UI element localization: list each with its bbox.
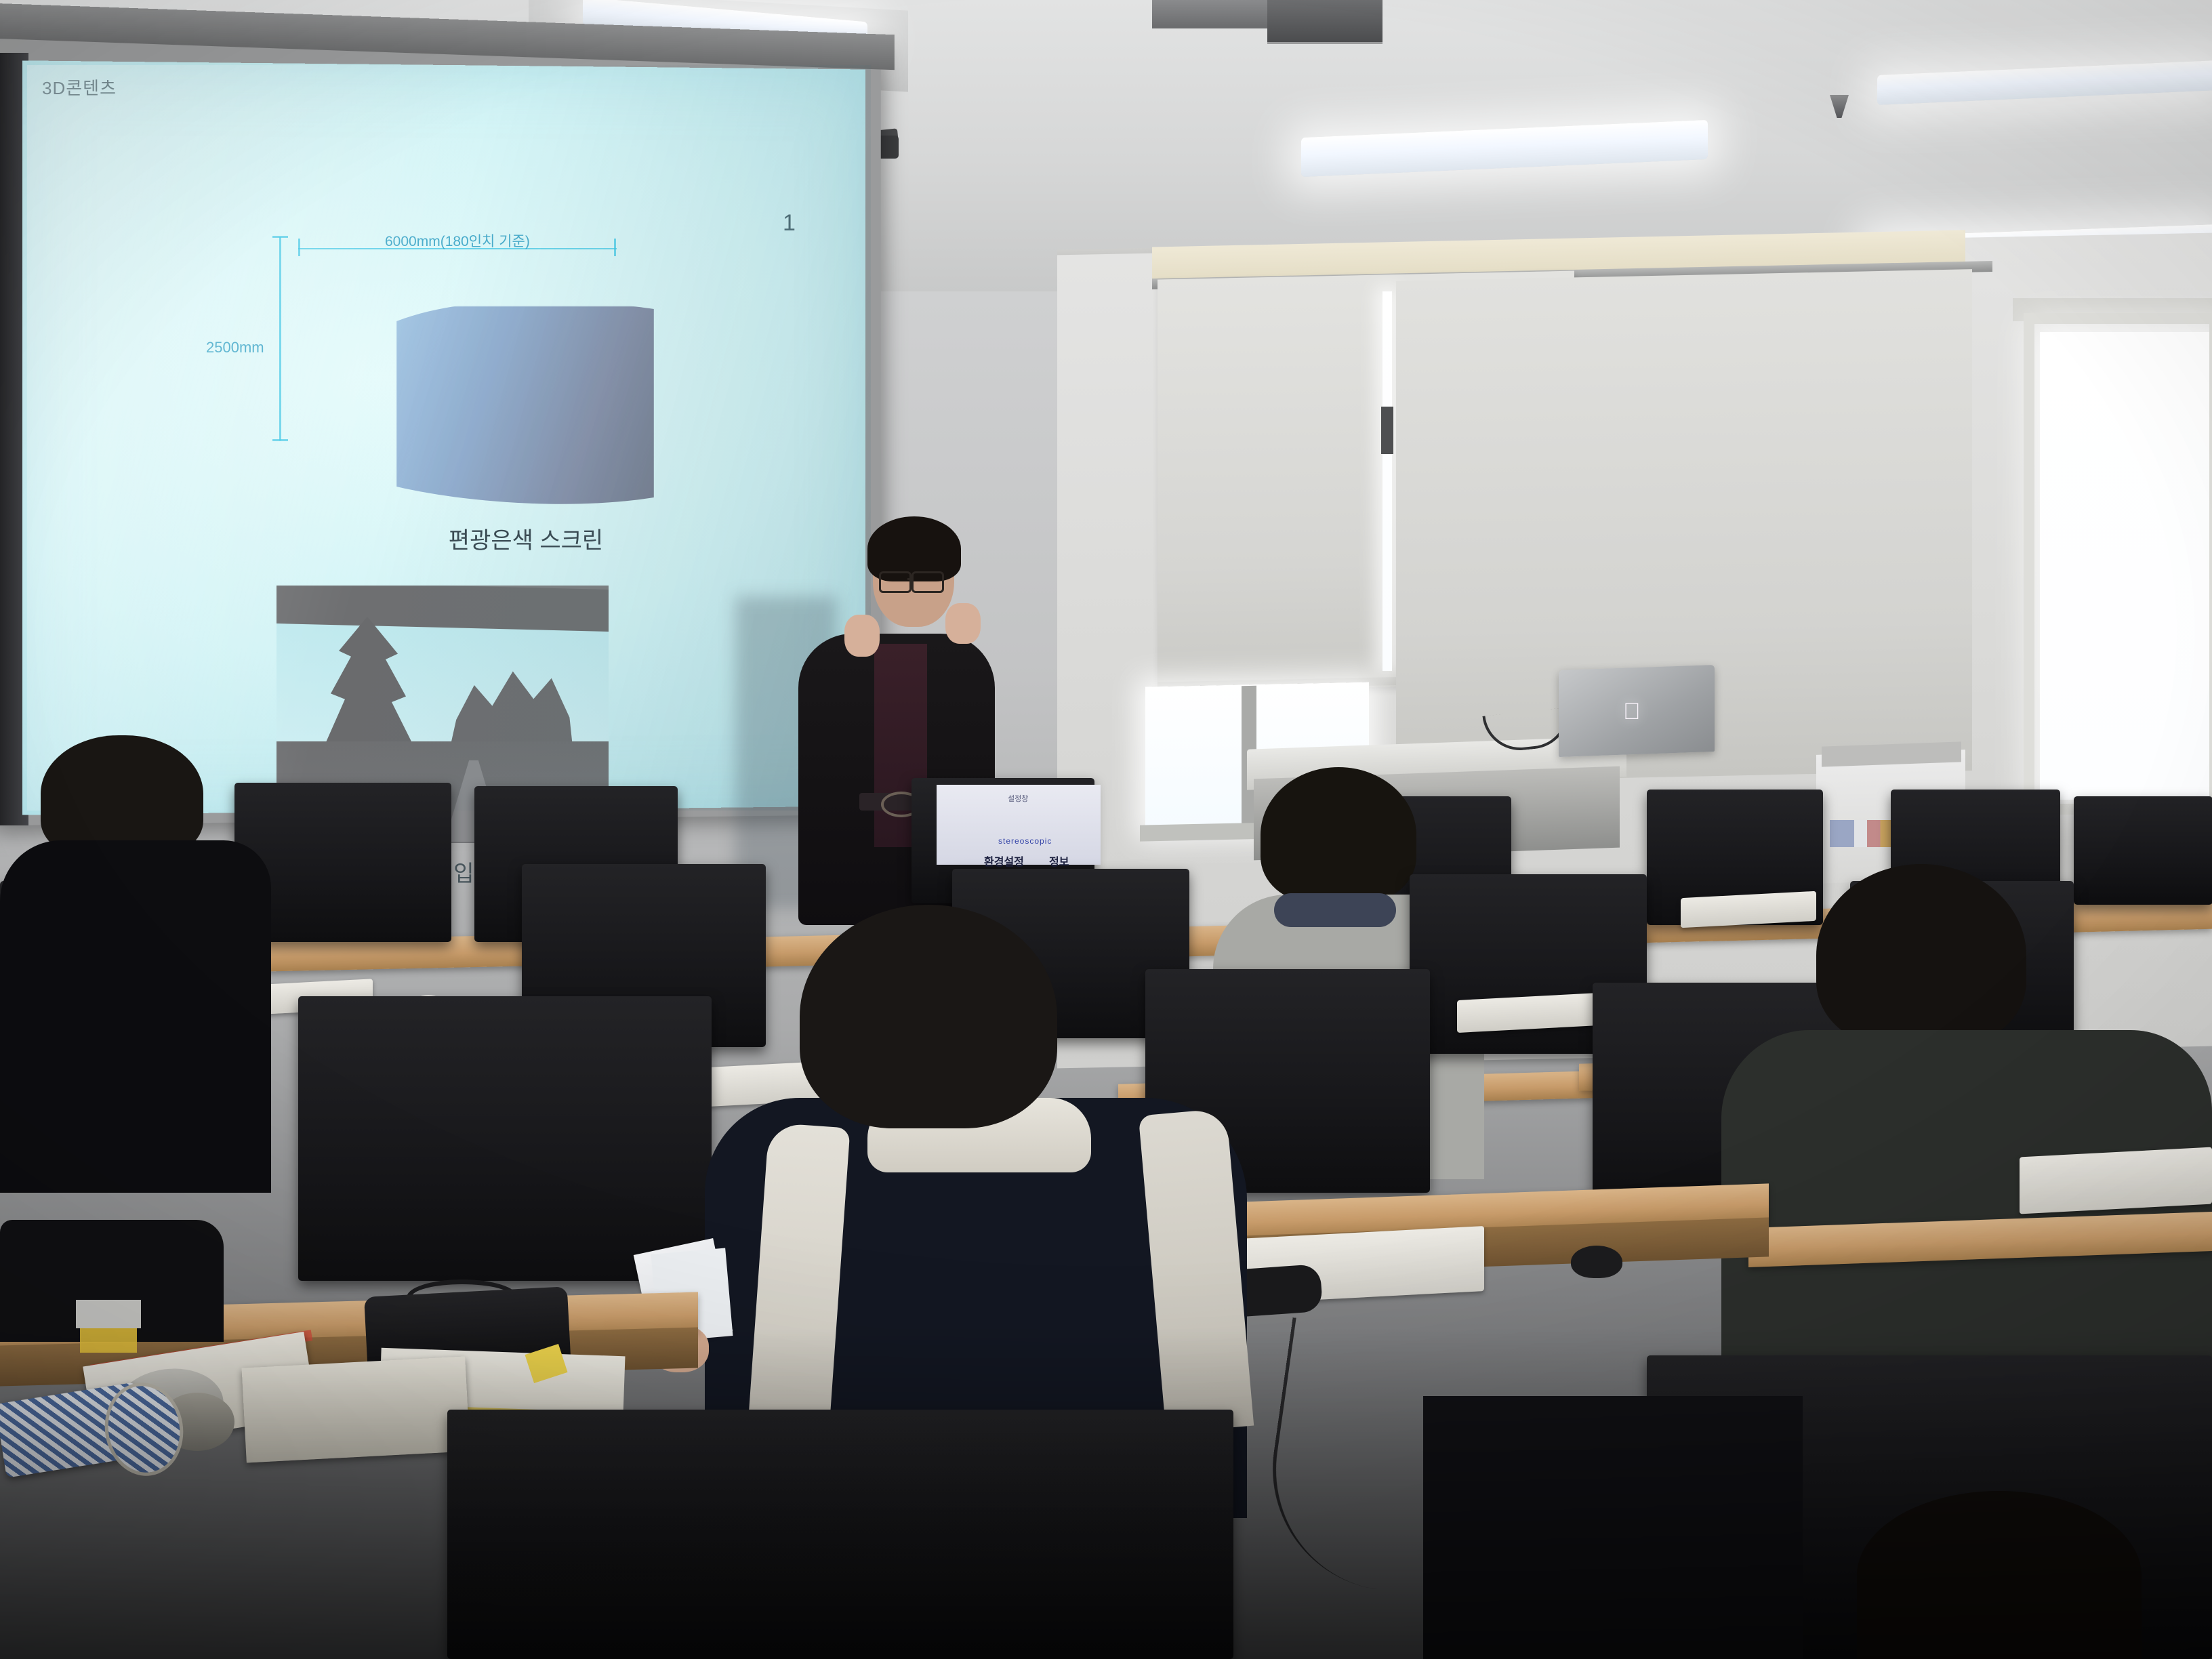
glasses-icon bbox=[879, 571, 912, 593]
keyboard[interactable] bbox=[2020, 1147, 2212, 1214]
student-head bbox=[800, 905, 1057, 1128]
chair-backrest[interactable] bbox=[1423, 1396, 1803, 1659]
blind-gap-bracket bbox=[1381, 407, 1393, 454]
student-collar bbox=[1274, 893, 1396, 927]
dimension-label-height: 2500mm bbox=[206, 339, 264, 356]
student-head bbox=[1816, 864, 2026, 1047]
monitor-content-button-left[interactable]: 환경설정 bbox=[984, 853, 1024, 869]
student-head bbox=[1857, 1491, 2142, 1659]
open-book[interactable] bbox=[242, 1356, 470, 1462]
monitor-content-subtitle: stereoscopic bbox=[998, 836, 1052, 846]
monitor bbox=[2074, 796, 2212, 905]
curved-screen-illustration bbox=[396, 306, 654, 510]
blind-light-gap bbox=[1382, 291, 1392, 671]
student-head bbox=[41, 735, 203, 857]
monitor-content-title: 설정창 bbox=[1008, 793, 1028, 804]
glasses-bridge bbox=[907, 578, 913, 580]
monitor-foreground bbox=[447, 1410, 1233, 1659]
photo-top-band bbox=[276, 586, 609, 632]
apple-logo-icon:  bbox=[1623, 700, 1646, 726]
dimension-cap-right bbox=[614, 239, 616, 256]
monitor bbox=[298, 996, 712, 1281]
ceiling-duct-vent bbox=[1267, 0, 1382, 44]
presenter-hand-left bbox=[844, 615, 880, 657]
dimension-cap-left bbox=[298, 239, 300, 256]
mouse[interactable] bbox=[1571, 1246, 1622, 1278]
ceiling-duct-secondary bbox=[1152, 0, 1281, 28]
dimension-label-width: 6000mm(180인치 기준) bbox=[385, 230, 530, 251]
dimension-cap-top bbox=[272, 236, 288, 238]
slide-page-number: 1 bbox=[783, 210, 796, 237]
classroom-photo-scene: 3D콘텐츠 1 2500mm 6000mm(180인치 기준) 편광은색 스크린… bbox=[0, 0, 2212, 1659]
student-head bbox=[1261, 767, 1416, 903]
window-right-frame bbox=[2024, 313, 2212, 815]
slide-caption-screen: 편광은색 스크린 bbox=[377, 522, 675, 555]
dimension-line-vertical bbox=[279, 237, 281, 441]
monitor-content-button-right[interactable]: 정보 bbox=[1049, 853, 1069, 869]
desk-label-yellow bbox=[80, 1328, 137, 1353]
dimension-cap-bottom bbox=[272, 439, 288, 441]
student-body bbox=[0, 840, 271, 1193]
glasses-icon bbox=[912, 571, 944, 593]
slide-header-text: 3D콘텐츠 bbox=[42, 75, 117, 100]
desk-label-white bbox=[76, 1300, 141, 1328]
presenter-hand-right bbox=[945, 603, 981, 644]
